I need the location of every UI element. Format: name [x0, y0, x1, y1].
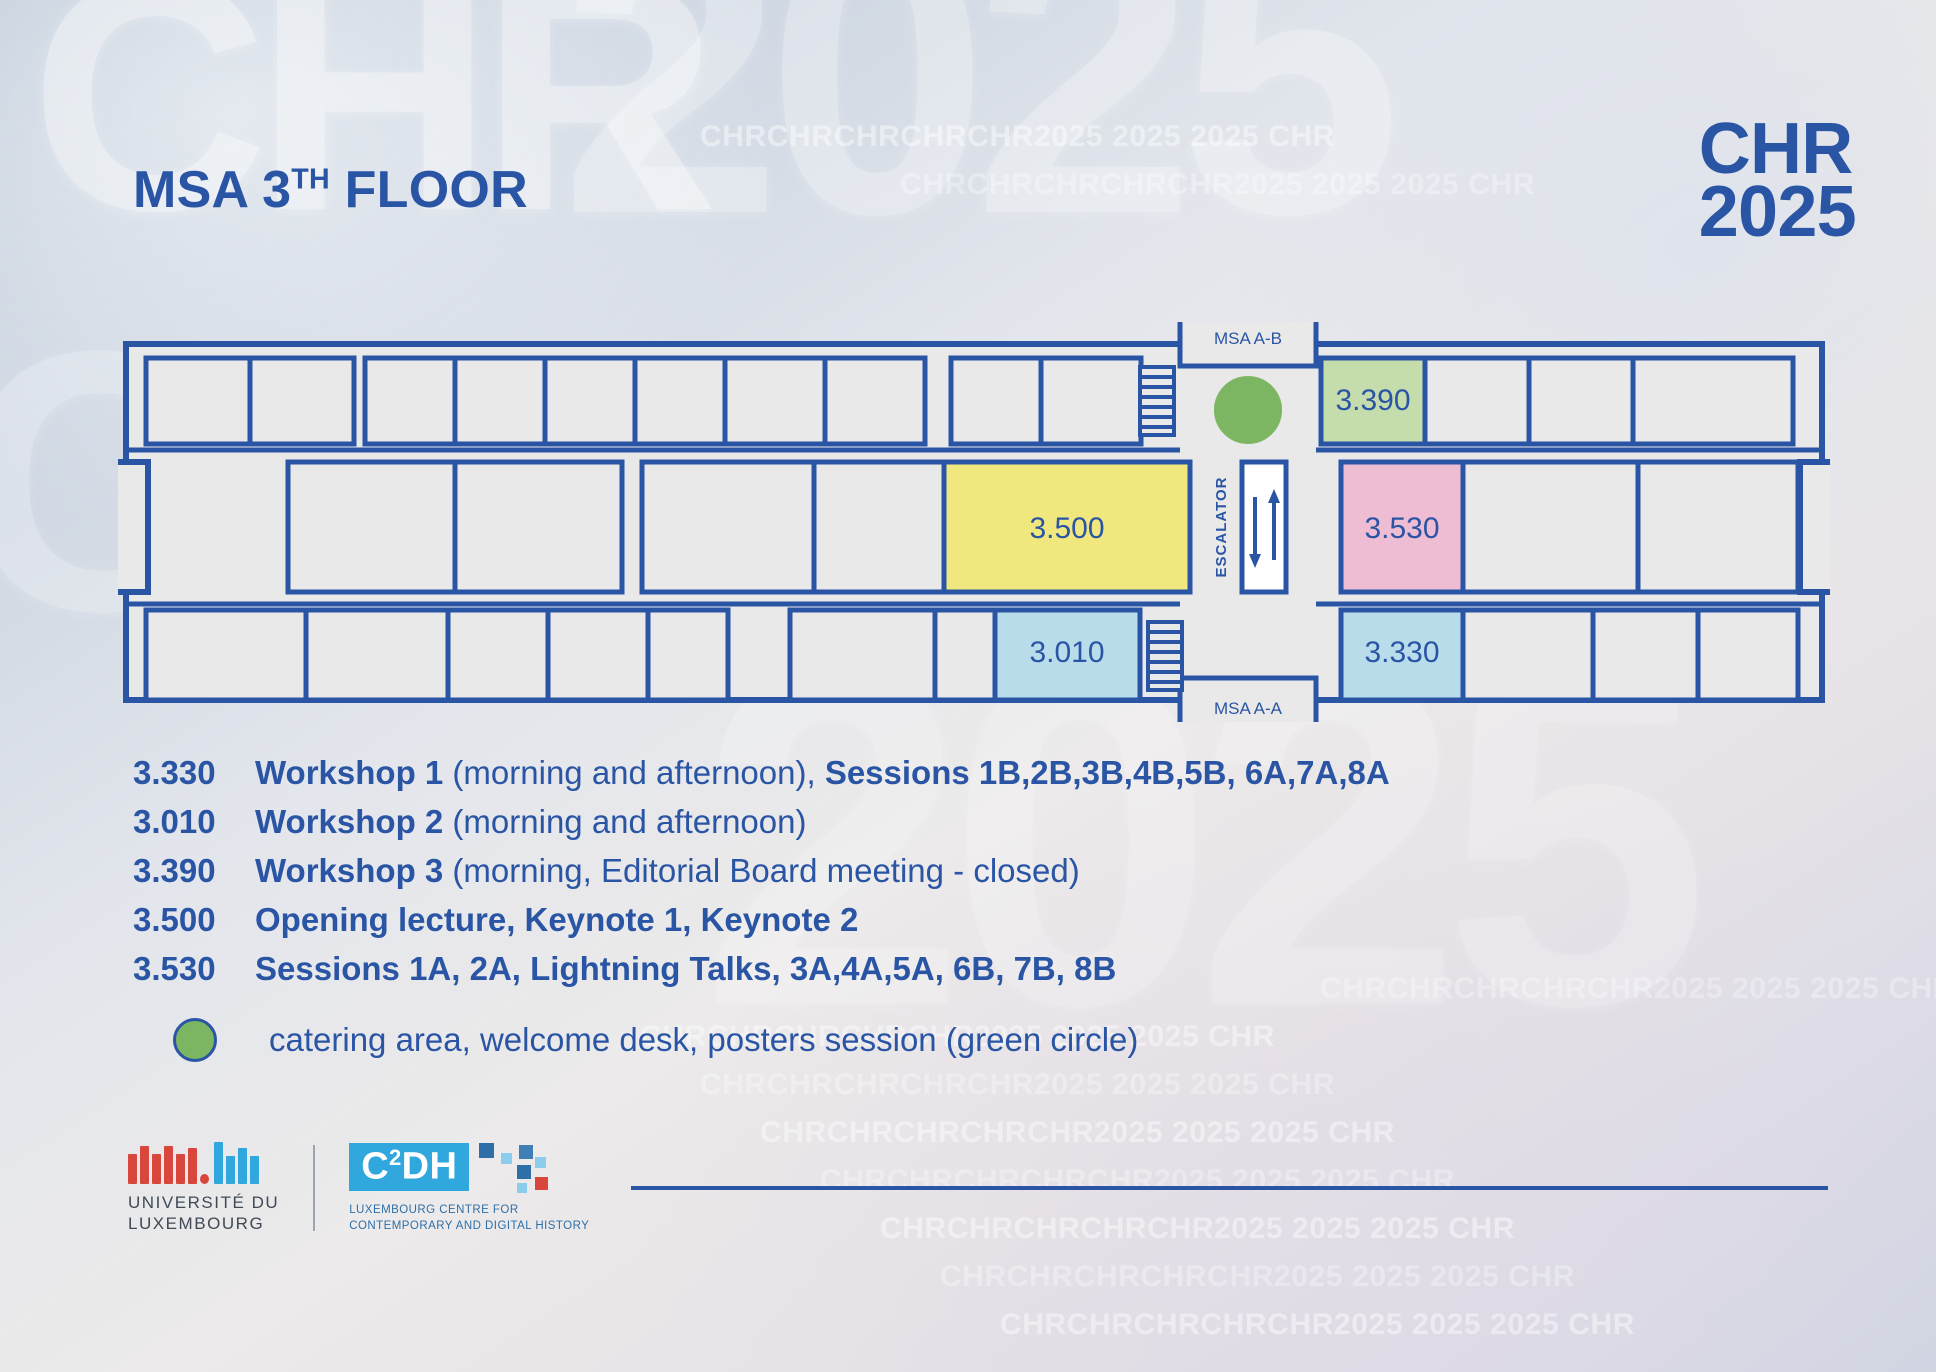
legend-bold: Workshop 2	[255, 803, 443, 840]
footer-rule	[631, 1186, 1828, 1190]
escalator-label: ESCALATOR	[1213, 477, 1230, 578]
stairs-top-icon	[1140, 367, 1174, 435]
legend-room-description: Workshop 1 (morning and afternoon), Sess…	[255, 755, 1390, 792]
legend-bold: Sessions 1A, 2A, Lightning Talks, 3A,4A,…	[255, 950, 1116, 987]
legend-row: 3.330 Workshop 1 (morning and afternoon)…	[133, 755, 1633, 792]
legend-row: 3.390 Workshop 3 (morning, Editorial Boa…	[133, 853, 1633, 890]
event-logo: CHR 2025	[1699, 118, 1856, 245]
c2dh-dots-decoration	[475, 1143, 549, 1195]
exit-label-top: MSA A-B	[1214, 329, 1282, 348]
legend-normal: (morning and afternoon)	[443, 803, 806, 840]
legend-bold: Opening lecture, Keynote 1, Keynote 2	[255, 901, 858, 938]
legend-note-row: catering area, welcome desk, posters ses…	[173, 1018, 1633, 1062]
floor-plan: MSA A-B MSA A-A ESCALATOR 3.390 3.500	[118, 322, 1830, 722]
event-logo-line2: 2025	[1699, 181, 1856, 244]
uni-lu-logo: UNIVERSITÉ DU LUXEMBOURG	[128, 1142, 279, 1235]
c2dh-logo-row: C2DH	[349, 1143, 589, 1195]
legend-row: 3.500 Opening lecture, Keynote 1, Keynot…	[133, 902, 1633, 939]
legend-room-description: Workshop 2 (morning and afternoon)	[255, 804, 806, 841]
footer-divider	[313, 1145, 315, 1231]
uni-lu-line2: LUXEMBOURG	[128, 1213, 279, 1234]
rooms-top-row	[146, 358, 1141, 444]
exit-label-bottom: MSA A-A	[1214, 699, 1283, 718]
uni-lu-wordmark: UNIVERSITÉ DU LUXEMBOURG	[128, 1192, 279, 1235]
room-3390[interactable]: 3.390	[1321, 358, 1425, 444]
footer: UNIVERSITÉ DU LUXEMBOURG C2DH LUXEMBOURG…	[128, 1142, 1828, 1235]
c2dh-subtitle: LUXEMBOURG CENTRE FOR CONTEMPORARY AND D…	[349, 1202, 589, 1234]
room-label-3500: 3.500	[1029, 512, 1104, 545]
green-circle-icon	[173, 1018, 217, 1062]
room-3530[interactable]: 3.530	[1341, 462, 1463, 592]
page-title-tail: FLOOR	[330, 161, 528, 219]
watermark-tile: CHRCHRCHRCHRCHR2025 2025 2025 CHR	[1000, 1308, 1635, 1342]
legend-room-description: Sessions 1A, 2A, Lightning Talks, 3A,4A,…	[255, 951, 1116, 988]
watermark-glyph: 2025	[560, 0, 1386, 238]
rooms-top-row-right	[1425, 358, 1793, 444]
legend-bold: Workshop 1	[255, 754, 443, 791]
legend-room-number: 3.390	[133, 853, 255, 890]
legend-room-number: 3.500	[133, 902, 255, 939]
room-3500[interactable]: 3.500	[944, 462, 1190, 592]
rooms-bottom-row	[146, 610, 1798, 700]
watermark-tile: CHRCHRCHRCHRCHR2025 2025 2025 CHR	[940, 1260, 1575, 1294]
uni-lu-line1: UNIVERSITÉ DU	[128, 1192, 279, 1213]
page-title-main: MSA 3	[133, 161, 291, 219]
escalator	[1242, 462, 1286, 592]
legend-normal: (morning and afternoon),	[443, 754, 825, 791]
catering-area-marker	[1215, 377, 1281, 443]
room-3010[interactable]: 3.010	[995, 610, 1140, 700]
c2dh-sup: 2	[389, 1145, 402, 1170]
legend-normal: (morning, Editorial Board meeting - clos…	[443, 852, 1079, 889]
page-title-ordinal: TH	[291, 164, 330, 196]
c2dh-tail: DH	[402, 1145, 458, 1187]
legend-bold: Workshop 3	[255, 852, 443, 889]
room-label-3530: 3.530	[1364, 512, 1439, 545]
uni-lu-logomark	[128, 1142, 259, 1184]
legend-row: 3.530 Sessions 1A, 2A, Lightning Talks, …	[133, 951, 1633, 988]
room-label-3330: 3.330	[1364, 636, 1439, 669]
legend-bold2: Sessions 1B,2B,3B,4B,5B, 6A,7A,8A	[825, 754, 1390, 791]
room-legend: 3.330 Workshop 1 (morning and afternoon)…	[133, 755, 1633, 1062]
stairs-bottom-icon	[1148, 622, 1182, 690]
legend-room-number: 3.530	[133, 951, 255, 988]
watermark-tile: CHRCHRCHRCHRCHR2025 2025 2025 CHR	[900, 168, 1535, 202]
page-title: MSA 3TH FLOOR	[133, 160, 528, 220]
room-3330[interactable]: 3.330	[1341, 610, 1463, 700]
c2dh-sub-line2: CONTEMPORARY AND DIGITAL HISTORY	[349, 1218, 589, 1234]
legend-note-text: catering area, welcome desk, posters ses…	[269, 1021, 1138, 1059]
legend-room-number: 3.330	[133, 755, 255, 792]
c2dh-main: C	[361, 1145, 389, 1187]
legend-row: 3.010 Workshop 2 (morning and afternoon)	[133, 804, 1633, 841]
room-label-3390: 3.390	[1335, 384, 1410, 417]
c2dh-wordmark: C2DH	[349, 1143, 469, 1192]
c2dh-sub-line1: LUXEMBOURG CENTRE FOR	[349, 1202, 589, 1218]
legend-room-description: Workshop 3 (morning, Editorial Board mee…	[255, 853, 1080, 890]
legend-room-number: 3.010	[133, 804, 255, 841]
watermark-tile: CHRCHRCHRCHRCHR2025 2025 2025 CHR	[700, 1068, 1335, 1102]
c2dh-logo: C2DH LUXEMBOURG CENTRE FOR CONTEMPORARY …	[349, 1143, 589, 1234]
legend-room-description: Opening lecture, Keynote 1, Keynote 2	[255, 902, 858, 939]
room-label-3010: 3.010	[1029, 636, 1104, 669]
watermark-tile: CHRCHRCHRCHRCHR2025 2025 2025 CHR	[700, 120, 1335, 154]
